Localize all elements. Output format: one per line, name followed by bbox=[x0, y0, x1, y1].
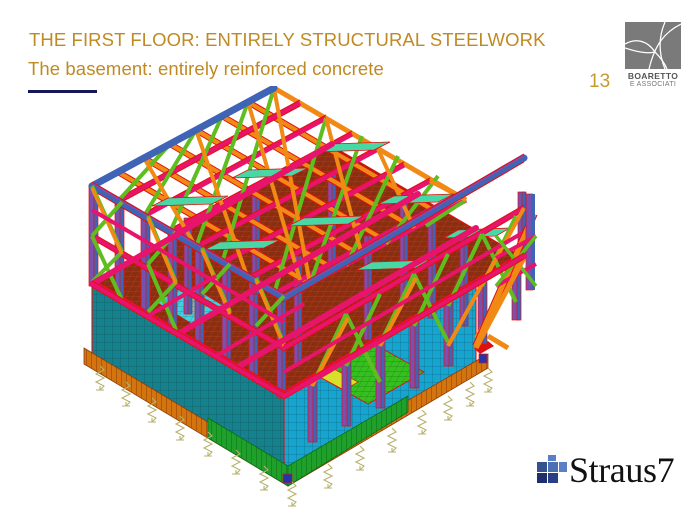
slide-root: THE FIRST FLOOR: ENTIRELY STRUCTURAL STE… bbox=[0, 0, 700, 525]
boaretto-name: BOARETTO bbox=[625, 72, 681, 81]
boaretto-mark-icon bbox=[625, 22, 681, 69]
structural-model-viewport bbox=[56, 86, 646, 516]
structural-model-svg bbox=[56, 86, 646, 516]
page-subtitle: The basement: entirely reinforced concre… bbox=[28, 58, 384, 80]
page-title: THE FIRST FLOOR: ENTIRELY STRUCTURAL STE… bbox=[29, 29, 546, 51]
boaretto-logo: BOARETTO E ASSOCIATI bbox=[625, 22, 681, 89]
